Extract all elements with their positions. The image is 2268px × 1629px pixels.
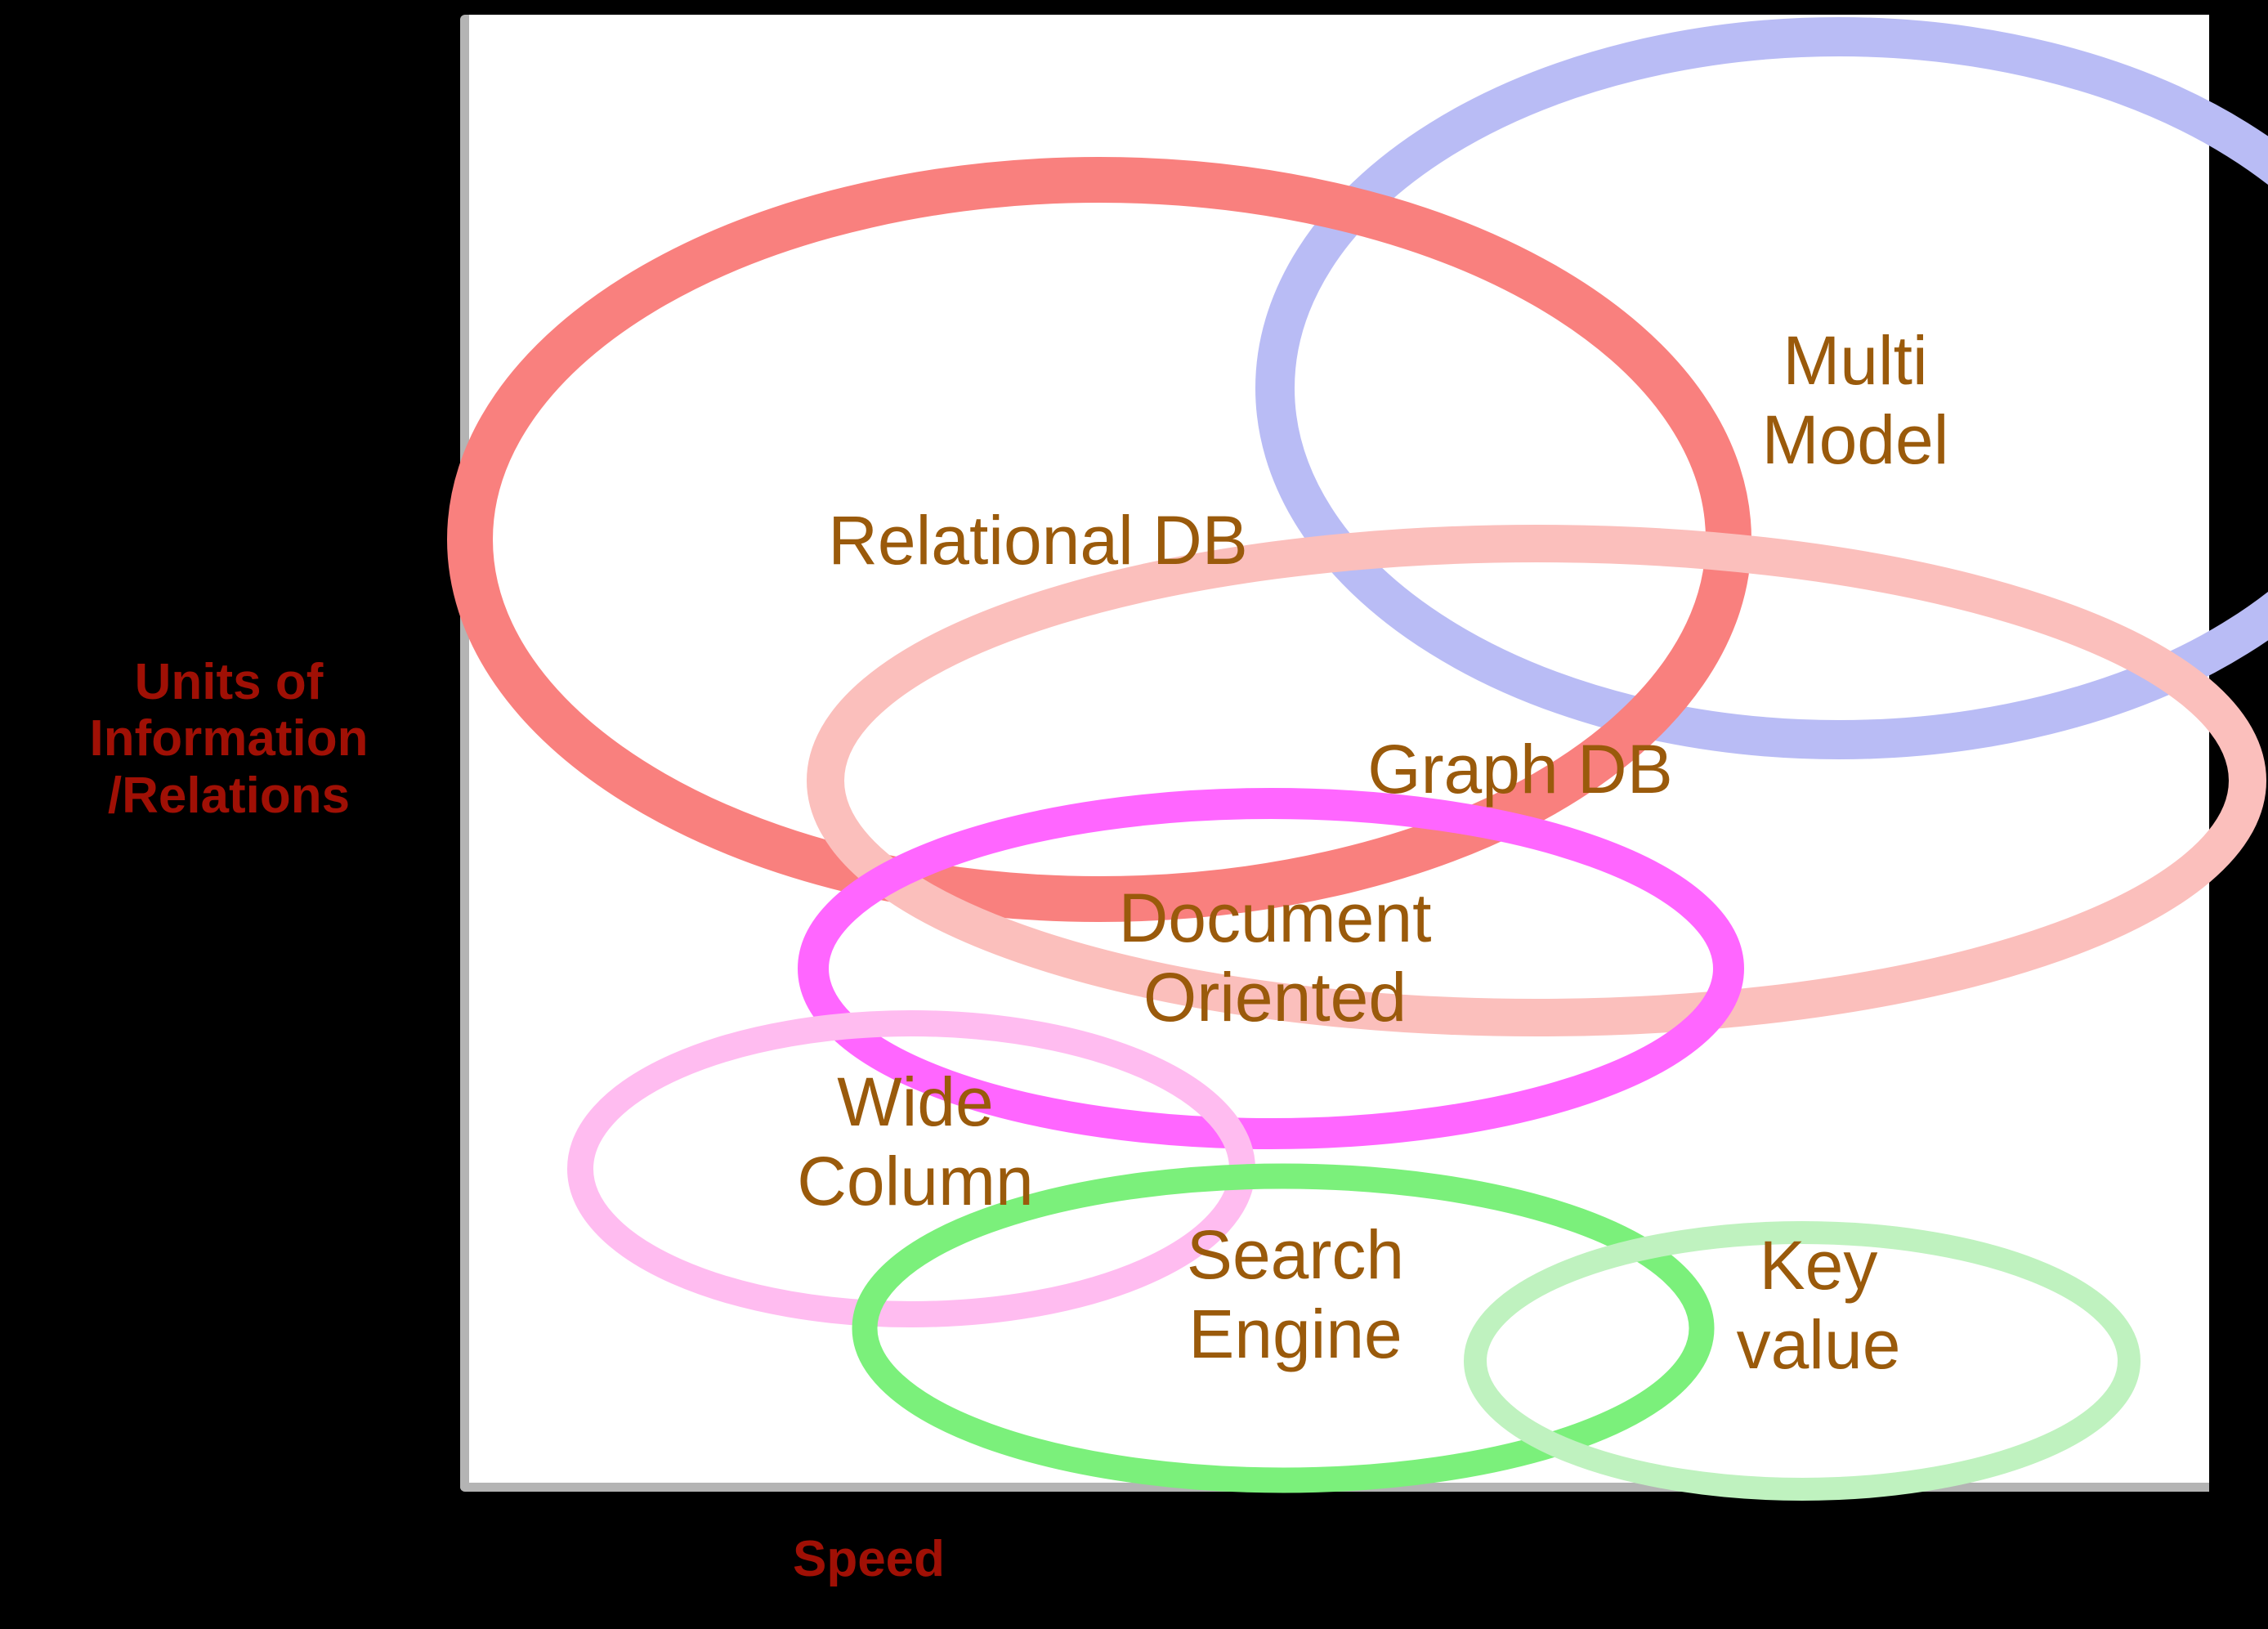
x-axis-label: Speed bbox=[460, 1530, 1277, 1588]
label-wide-column: Wide Column bbox=[711, 1063, 1120, 1222]
diagram-canvas: Units of Information /Relations Multi Mo… bbox=[0, 0, 2268, 1629]
label-search-engine: Search Engine bbox=[1120, 1215, 1471, 1375]
y-axis-label: Units of Information /Relations bbox=[0, 654, 458, 824]
label-document-oriented: Document Oriented bbox=[1062, 879, 1487, 1038]
label-relational-db: Relational DB bbox=[711, 501, 1365, 580]
label-multi-model: Multi Model bbox=[1684, 321, 2027, 481]
label-graph-db: Graph DB bbox=[1316, 730, 1724, 809]
label-key-value: Key value bbox=[1684, 1226, 1953, 1385]
